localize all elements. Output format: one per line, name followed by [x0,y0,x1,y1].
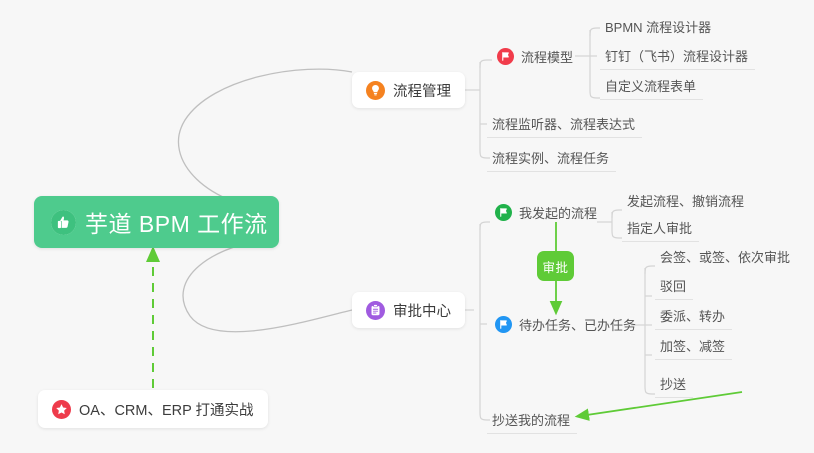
leaf-label: BPMN 流程设计器 [605,17,711,36]
clipboard-icon [366,301,385,320]
leaf-countersign[interactable]: 会签、或签、依次审批 [655,242,797,270]
bottom-note-label: OA、CRM、ERP 打通实战 [79,399,254,420]
node-process-management[interactable]: 流程管理 [352,72,465,108]
node-label: 抄送我的流程 [492,410,570,429]
node-my-started-processes[interactable]: 我发起的流程 [490,198,604,226]
node-process-model[interactable]: 流程模型 [492,42,580,70]
node-todo-done-tasks[interactable]: 待办任务、已办任务 [490,310,643,338]
edge-pm-corner-top [480,60,492,68]
leaf-reject[interactable]: 驳回 [655,272,693,300]
star-icon [52,400,71,419]
edge-model-corner-bot [590,90,600,98]
leaf-dingtalk-designer[interactable]: 钉钉（飞书）流程设计器 [600,42,755,70]
edge-root-to-process-management [178,69,352,210]
edge-started-corner-bot [612,230,622,238]
edge-ac-corner-top [480,222,490,230]
leaf-start-cancel-process[interactable]: 发起流程、撤销流程 [622,186,751,214]
edge-todo-corner-bot [645,386,655,394]
leaf-label: 钉钉（飞书）流程设计器 [605,46,748,65]
leaf-bpmn-designer[interactable]: BPMN 流程设计器 [600,12,718,40]
leaf-label: 指定人审批 [627,218,692,237]
leaf-label: 流程监听器、流程表达式 [492,114,635,133]
node-label: 我发起的流程 [519,203,597,222]
leaf-add-remove-sign[interactable]: 加签、减签 [655,332,732,360]
leaf-label: 驳回 [660,276,686,295]
flag-icon [497,48,514,65]
leaf-label: 抄送 [660,374,686,393]
edge-root-to-approval-center [183,238,352,332]
leaf-label: 委派、转办 [660,306,725,325]
flag-icon [495,316,512,333]
leaf-label: 会签、或签、依次审批 [660,247,790,266]
leaf-delegate-transfer[interactable]: 委派、转办 [655,302,732,330]
edge-todo-corner-top [645,266,655,274]
leaf-label: 发起流程、撤销流程 [627,191,744,210]
leaf-label: 流程实例、流程任务 [492,148,609,167]
lightbulb-icon [366,81,385,100]
node-label: 审批中心 [393,300,451,321]
edge-model-corner-top [590,28,600,36]
leaf-assignee-approval[interactable]: 指定人审批 [622,214,699,242]
leaf-process-listener[interactable]: 流程监听器、流程表达式 [487,110,642,138]
root-node[interactable]: 芋道 BPM 工作流 [34,196,279,248]
edge-started-corner-top [612,210,622,218]
mindmap-canvas: 芋道 BPM 工作流 流程管理 流程模型 BPMN 流程设计器 钉钉（飞书）流程 [0,0,814,453]
root-label: 芋道 BPM 工作流 [85,205,268,239]
leaf-label: 自定义流程表单 [605,76,696,95]
node-label: 待办任务、已办任务 [519,315,636,334]
node-cc-to-me[interactable]: 抄送我的流程 [487,406,577,434]
annotation-pill-approve: 审批 [537,251,574,281]
node-bottom-note[interactable]: OA、CRM、ERP 打通实战 [38,390,268,428]
node-label: 流程模型 [521,47,573,66]
annotation-pill-label: 审批 [542,257,568,276]
thumbs-up-icon [51,210,76,235]
node-approval-center[interactable]: 审批中心 [352,292,465,328]
leaf-cc[interactable]: 抄送 [655,370,693,398]
leaf-process-instance[interactable]: 流程实例、流程任务 [487,144,616,172]
leaf-custom-form[interactable]: 自定义流程表单 [600,72,703,100]
leaf-label: 加签、减签 [660,336,725,355]
node-label: 流程管理 [393,80,451,101]
flag-icon [495,204,512,221]
